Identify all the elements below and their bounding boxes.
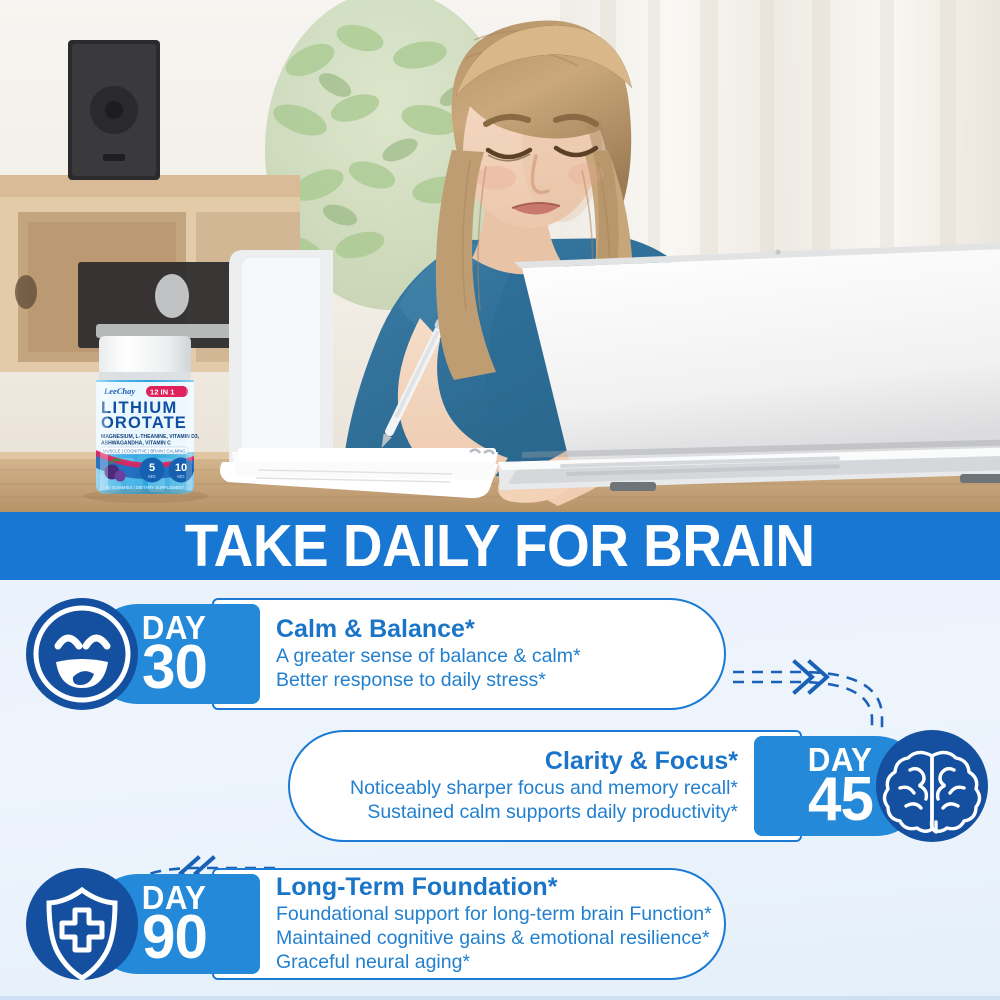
card-line: Sustained calm supports daily productivi…: [367, 801, 738, 825]
card-line: Foundational support for long-term brain…: [276, 903, 712, 927]
timeline-card-day90: Long-Term Foundation* Foundational suppo…: [212, 868, 726, 980]
card-line: Noticeably sharper focus and memory reca…: [350, 777, 738, 801]
timeline-row-day30: Calm & Balance* A greater sense of balan…: [26, 598, 726, 710]
svg-text:MG: MG: [148, 474, 156, 479]
headline-banner: TAKE DAILY FOR BRAIN: [0, 512, 1000, 580]
svg-text:OROTATE: OROTATE: [101, 414, 187, 432]
card-line: A greater sense of balance & calm*: [276, 645, 581, 669]
page-title: TAKE DAILY FOR BRAIN: [185, 517, 815, 576]
shield-cross-icon: [26, 868, 138, 980]
hero-photo: LeeChay 12 IN 1 LITHIUM OROTATE MAGNESIU…: [0, 0, 1000, 512]
timeline-row-day90: Long-Term Foundation* Foundational suppo…: [26, 868, 726, 980]
timeline-card-day30: Calm & Balance* A greater sense of balan…: [212, 598, 726, 710]
card-line: Maintained cognitive gains & emotional r…: [276, 927, 710, 951]
svg-text:MAGNESIUM, L-THEANINE, VITAMIN: MAGNESIUM, L-THEANINE, VITAMIN D3,: [101, 434, 200, 440]
svg-text:ASHWAGANDHA, VITAMIN C: ASHWAGANDHA, VITAMIN C: [101, 441, 171, 447]
day-number: 30: [142, 641, 207, 696]
brain-icon: [876, 730, 988, 842]
card-line: Graceful neural aging*: [276, 951, 470, 975]
svg-text:5: 5: [149, 462, 155, 474]
svg-text:MG: MG: [177, 474, 185, 479]
hero-photo-illustration: LeeChay 12 IN 1 LITHIUM OROTATE MAGNESIU…: [0, 0, 1000, 512]
bottom-divider: [0, 996, 1000, 1000]
svg-text:10: 10: [175, 462, 187, 474]
card-heading: Clarity & Focus*: [545, 747, 738, 776]
day-number: 45: [808, 773, 873, 828]
svg-text:12 IN 1: 12 IN 1: [150, 388, 175, 397]
card-heading: Calm & Balance*: [276, 615, 475, 644]
timeline-card-day45: Clarity & Focus* Noticeably sharper focu…: [288, 730, 802, 842]
smiley-face-icon: [26, 598, 138, 710]
timeline-section: Calm & Balance* A greater sense of balan…: [0, 580, 1000, 1000]
day-number: 90: [142, 911, 207, 966]
card-line: Better response to daily stress*: [276, 669, 546, 693]
svg-text:MUSCLE | COGNITIVE | BRAIN | C: MUSCLE | COGNITIVE | BRAIN | CALMING: [103, 448, 186, 453]
card-heading: Long-Term Foundation*: [276, 873, 557, 902]
timeline-row-day45: Clarity & Focus* Noticeably sharper focu…: [288, 730, 988, 842]
